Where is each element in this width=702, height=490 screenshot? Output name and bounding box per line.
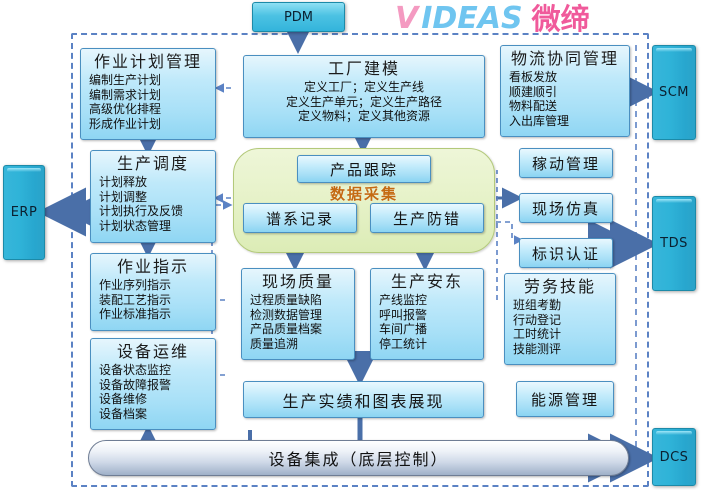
node-dcs-label: DCS bbox=[660, 450, 689, 465]
node-tds[interactable]: TDS bbox=[652, 196, 696, 291]
center-box-label: 谱系记录 bbox=[266, 208, 334, 229]
module-title: 设备运维 bbox=[117, 342, 189, 362]
center-box-label: 生产防错 bbox=[393, 208, 461, 229]
module-title: 生产调度 bbox=[117, 154, 189, 174]
module-work-instruction[interactable]: 作业指示 作业序列指示 装配工艺指示 作业标准指示 bbox=[90, 253, 216, 331]
node-erp-label: ERP bbox=[11, 205, 38, 220]
small-box-label: 能源管理 bbox=[531, 389, 599, 410]
module-item: 定义物料；定义其他资源 bbox=[286, 109, 442, 124]
module-item: 形成作业计划 bbox=[89, 117, 161, 132]
small-box-label: 生产实绩和图表展现 bbox=[282, 388, 444, 412]
module-onsite-simulation[interactable]: 现场仿真 bbox=[519, 193, 613, 223]
module-production-results-charts[interactable]: 生产实绩和图表展现 bbox=[243, 381, 484, 418]
module-item: 呼叫报警 bbox=[379, 308, 427, 323]
module-item: 顺建顺引 bbox=[509, 85, 569, 100]
center-box-product-tracking[interactable]: 产品跟踪 bbox=[297, 155, 431, 183]
node-erp[interactable]: ERP bbox=[3, 165, 45, 260]
module-item: 质量追溯 bbox=[250, 337, 322, 352]
module-item: 班组考勤 bbox=[513, 298, 561, 313]
module-item: 检测数据管理 bbox=[250, 308, 322, 323]
module-item: 设备档案 bbox=[99, 407, 171, 422]
diagram-canvas: V IDEAS 微缔 bbox=[0, 0, 702, 490]
module-logistics-collaboration[interactable]: 物流协同管理 看板发放 顺建顺引 物料配送 入出库管理 bbox=[500, 45, 630, 137]
module-item: 作业标准指示 bbox=[99, 307, 171, 322]
module-item: 计划状态管理 bbox=[99, 219, 183, 234]
module-production-andon[interactable]: 生产安东 产线监控 呼叫报警 车间广播 停工统计 bbox=[370, 268, 484, 360]
module-item: 车间广播 bbox=[379, 322, 427, 337]
module-item: 计划执行及反馈 bbox=[99, 204, 183, 219]
module-title: 作业计划管理 bbox=[94, 52, 202, 72]
module-item: 装配工艺指示 bbox=[99, 293, 171, 308]
module-item: 计划调整 bbox=[99, 190, 183, 205]
module-energy-management[interactable]: 能源管理 bbox=[516, 381, 614, 417]
module-item: 入出库管理 bbox=[509, 114, 569, 129]
module-item: 产品质量档案 bbox=[250, 322, 322, 337]
module-factory-modeling[interactable]: 工厂建模 定义工厂；定义生产线 定义生产单元；定义生产路径 定义物料；定义其他资… bbox=[243, 55, 485, 138]
module-item: 工时统计 bbox=[513, 327, 561, 342]
module-item: 过程质量缺陷 bbox=[250, 293, 322, 308]
node-tds-label: TDS bbox=[660, 236, 688, 251]
module-title: 生产安东 bbox=[391, 272, 463, 292]
module-item: 设备状态监控 bbox=[99, 363, 171, 378]
equipment-integration-bar[interactable]: 设备集成（底层控制） bbox=[88, 440, 629, 476]
module-item: 编制生产计划 bbox=[89, 73, 161, 88]
module-production-plan[interactable]: 作业计划管理 编制生产计划 编制需求计划 高级优化排程 形成作业计划 bbox=[80, 48, 216, 140]
node-scm[interactable]: SCM bbox=[652, 45, 696, 140]
module-item: 技能测评 bbox=[513, 342, 561, 357]
small-box-label: 稼动管理 bbox=[532, 153, 600, 174]
node-scm-label: SCM bbox=[659, 85, 689, 100]
module-identification-certification[interactable]: 标识认证 bbox=[519, 238, 613, 268]
module-item: 设备故障报警 bbox=[99, 378, 171, 393]
module-equipment-maintenance[interactable]: 设备运维 设备状态监控 设备故障报警 设备维修 设备档案 bbox=[90, 338, 216, 430]
node-pdm-label: PDM bbox=[284, 10, 313, 25]
module-title: 现场质量 bbox=[262, 272, 334, 292]
module-item: 设备维修 bbox=[99, 392, 171, 407]
module-title: 物流协同管理 bbox=[511, 49, 619, 69]
module-item: 高级优化排程 bbox=[89, 102, 161, 117]
module-item: 定义工厂；定义生产线 bbox=[286, 80, 442, 95]
center-box-error-proofing[interactable]: 生产防错 bbox=[370, 203, 484, 233]
data-collection-label: 数据采集 bbox=[233, 183, 495, 204]
small-box-label: 现场仿真 bbox=[532, 198, 600, 219]
module-labor-skill[interactable]: 劳务技能 班组考勤 行动登记 工时统计 技能测评 bbox=[504, 273, 616, 365]
node-pdm[interactable]: PDM bbox=[252, 2, 345, 32]
module-item: 物料配送 bbox=[509, 99, 569, 114]
module-title: 劳务技能 bbox=[524, 277, 596, 297]
module-item: 停工统计 bbox=[379, 337, 427, 352]
module-item: 计划释放 bbox=[99, 175, 183, 190]
module-item: 定义生产单元；定义生产路径 bbox=[286, 95, 442, 110]
module-item: 行动登记 bbox=[513, 313, 561, 328]
center-box-genealogy-record[interactable]: 谱系记录 bbox=[243, 203, 357, 233]
small-box-label: 标识认证 bbox=[532, 243, 600, 264]
module-utilization-management[interactable]: 稼动管理 bbox=[519, 148, 613, 178]
center-box-label: 产品跟踪 bbox=[330, 159, 398, 180]
module-production-scheduling[interactable]: 生产调度 计划释放 计划调整 计划执行及反馈 计划状态管理 bbox=[90, 150, 216, 243]
module-onsite-quality[interactable]: 现场质量 过程质量缺陷 检测数据管理 产品质量档案 质量追溯 bbox=[241, 268, 355, 360]
module-item: 作业序列指示 bbox=[99, 278, 171, 293]
module-title: 作业指示 bbox=[117, 257, 189, 277]
module-item: 看板发放 bbox=[509, 70, 569, 85]
module-item: 产线监控 bbox=[379, 293, 427, 308]
module-title: 工厂建模 bbox=[328, 59, 400, 79]
equipment-integration-label: 设备集成（底层控制） bbox=[268, 446, 448, 470]
module-item: 编制需求计划 bbox=[89, 88, 161, 103]
node-dcs[interactable]: DCS bbox=[652, 428, 696, 486]
